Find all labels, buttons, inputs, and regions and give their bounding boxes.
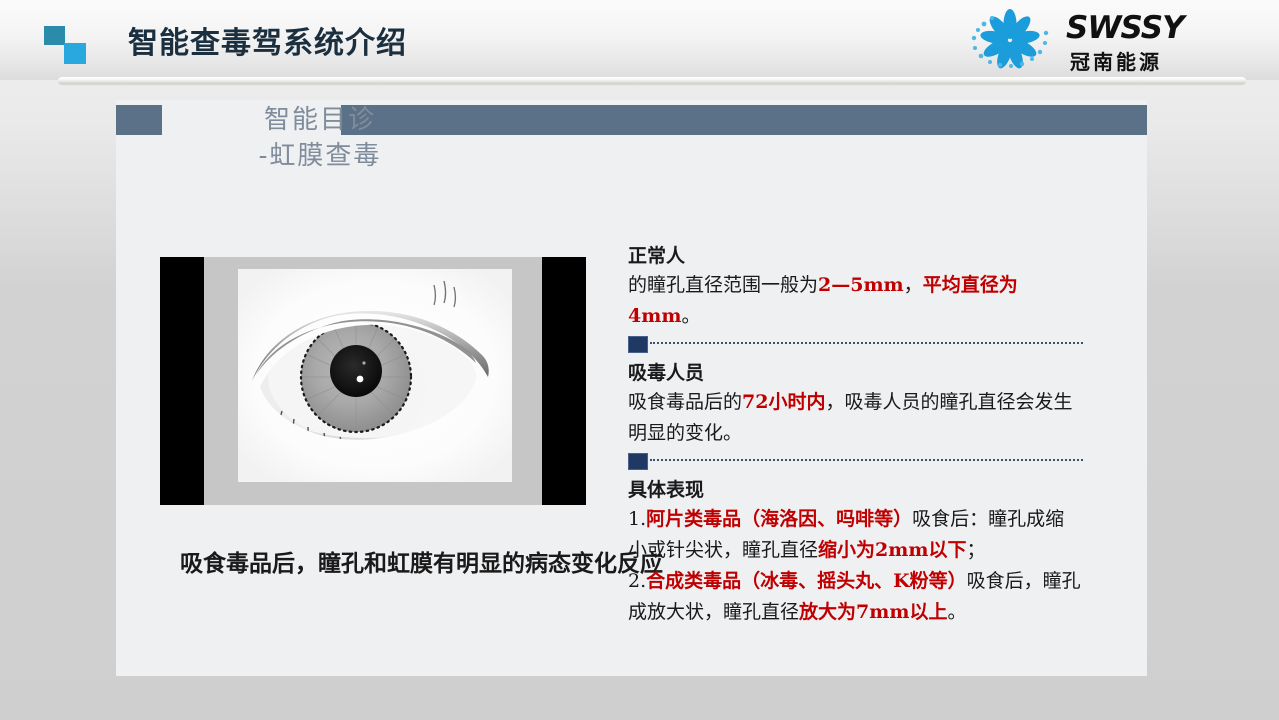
eye-photograph: [238, 269, 512, 482]
section-title-line1: 智能目诊: [264, 105, 376, 135]
block-heading: 具体表现: [628, 476, 1083, 504]
separator-dotted-line: [650, 459, 1083, 461]
slide-canvas: 智能查毒驾系统介绍: [0, 0, 1279, 720]
block-heading: 吸毒人员: [628, 359, 1083, 387]
text-block-normal: 正常人 的瞳孔直径范围一般为2—5mm，平均直径为4mm。: [628, 242, 1083, 332]
block-body: 吸食毒品后的72小时内，吸毒人员的瞳孔直径会发生明显的变化。: [628, 387, 1083, 449]
letterbox-bar-right: [542, 257, 586, 505]
figure-caption: 吸食毒品后，瞳孔和虹膜有明显的病态变化反应: [180, 544, 680, 578]
block-heading: 正常人: [628, 242, 1083, 270]
separator-square-icon: [628, 453, 648, 470]
section-title-bar-right: [341, 105, 1147, 135]
section-title-block-left: [116, 105, 162, 135]
block-body: 1.阿片类毒品（海洛因、吗啡等）吸食后：瞳孔成缩小或针尖状，瞳孔直径缩小为2mm…: [628, 504, 1083, 628]
logo-text-cn: 冠南能源: [1070, 46, 1162, 75]
content-panel: 智能目诊 -虹膜查毒: [116, 100, 1147, 676]
two-squares-icon: [44, 26, 90, 66]
text-block-symptoms: 具体表现 1.阿片类毒品（海洛因、吗啡等）吸食后：瞳孔成缩小或针尖状，瞳孔直径缩…: [628, 476, 1083, 628]
separator-square-icon: [628, 336, 648, 353]
eye-figure: 吸食毒品后，瞳孔和虹膜有明显的病态变化反应: [160, 257, 586, 505]
section-title: 智能目诊 -虹膜查毒: [200, 102, 440, 174]
header-divider: [58, 77, 1246, 84]
separator-dotted-line: [650, 342, 1083, 344]
text-block-drug-user: 吸毒人员 吸食毒品后的72小时内，吸毒人员的瞳孔直径会发生明显的变化。: [628, 359, 1083, 449]
square-blue: [64, 43, 86, 64]
logo-text-en: SWSSY: [1066, 10, 1184, 46]
square-teal: [44, 26, 65, 45]
slide-header: 智能查毒驾系统介绍: [0, 0, 1279, 80]
text-column: 正常人 的瞳孔直径范围一般为2—5mm，平均直径为4mm。 吸毒人员 吸食毒品后…: [628, 242, 1083, 628]
section-title-line2: -虹膜查毒: [200, 138, 440, 174]
letterbox-bar-left: [160, 257, 204, 505]
block-body: 的瞳孔直径范围一般为2—5mm，平均直径为4mm。: [628, 270, 1083, 332]
section-separator: [628, 334, 1083, 356]
water-droplet-flower-icon: [962, 8, 1058, 72]
page-title: 智能查毒驾系统介绍: [128, 18, 407, 62]
section-separator: [628, 451, 1083, 473]
company-logo: SWSSY 冠南能源: [962, 6, 1222, 74]
